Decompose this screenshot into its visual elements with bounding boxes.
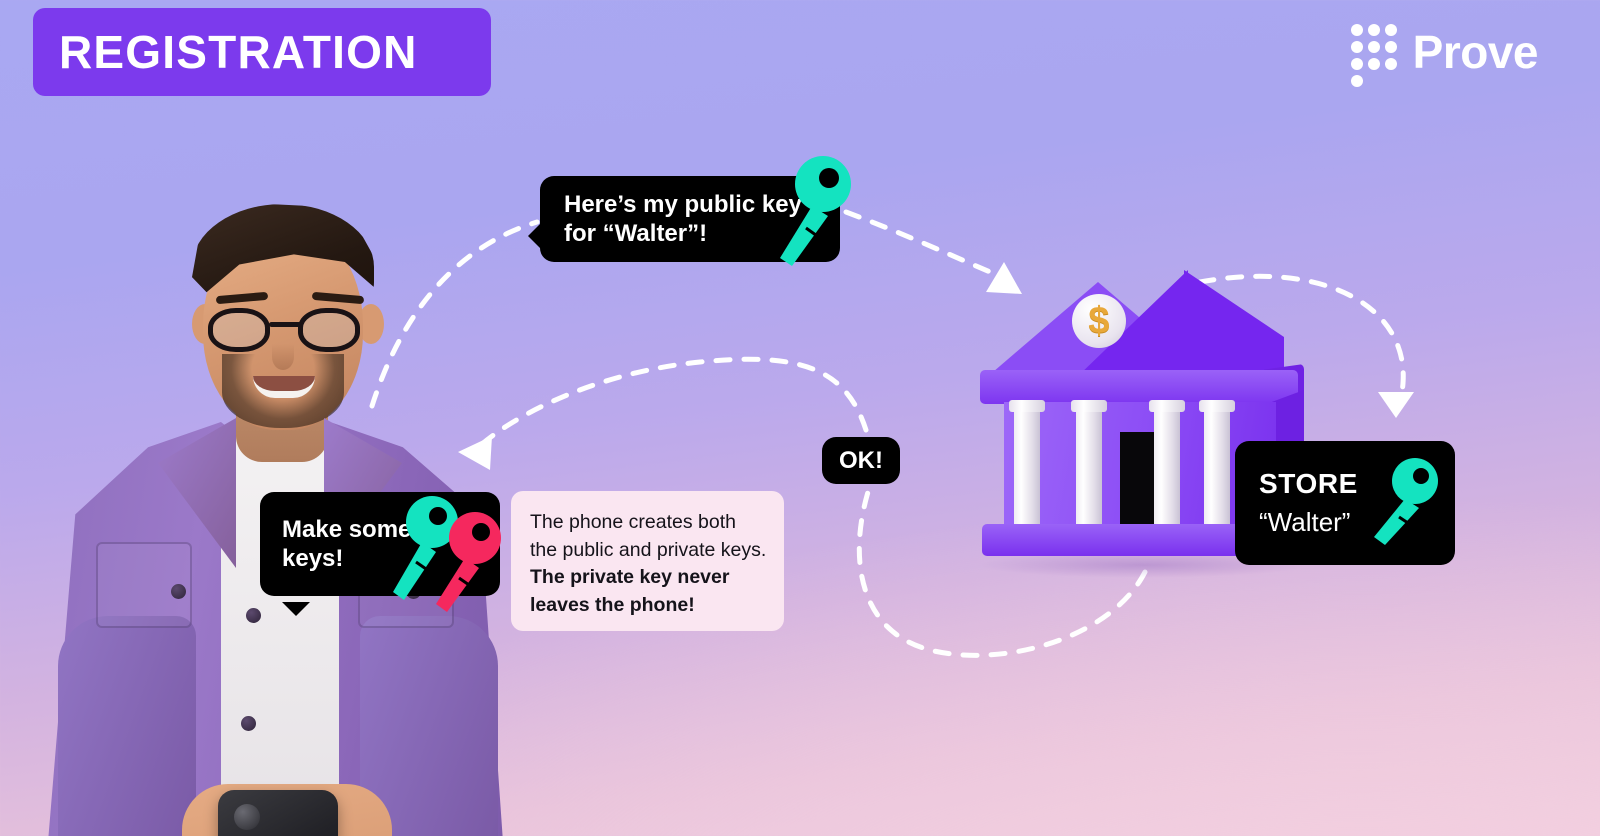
registration-badge: REGISTRATION: [33, 8, 491, 96]
prove-wordmark: Prove: [1413, 29, 1538, 75]
column: [1014, 406, 1040, 530]
prove-logo[interactable]: Prove: [1351, 24, 1538, 80]
key-icon: [1369, 457, 1447, 549]
path-return-to-man: [482, 359, 866, 444]
entablature: [980, 370, 1298, 404]
bubble-public-line1: Here’s my public key: [564, 190, 802, 219]
info-line1: The phone creates both: [530, 509, 768, 537]
bubble-ok-label: OK!: [839, 447, 883, 475]
arrowhead-to-man: [458, 436, 492, 470]
column: [1154, 406, 1180, 530]
bubble-store-line2: “Walter”: [1259, 507, 1350, 538]
info-panel: The phone creates both the public and pr…: [511, 491, 784, 631]
arrowhead-to-store: [1378, 392, 1414, 418]
info-bold2: leaves the phone!: [530, 592, 768, 620]
prove-dot-matrix-icon: [1351, 24, 1397, 80]
page-title: REGISTRATION: [59, 29, 418, 75]
bubble-store-line1: STORE: [1259, 468, 1358, 500]
column: [1076, 406, 1102, 530]
speech-bubble-public-key: Here’s my public key for “Walter”!: [540, 176, 840, 262]
speech-bubble-ok: OK!: [822, 437, 900, 484]
speech-bubble-make-keys: Make some keys!: [260, 492, 500, 596]
dashed-flow-arrows: [0, 0, 1600, 836]
speech-bubble-store: STORE “Walter”: [1235, 441, 1455, 565]
roof-side: [1184, 270, 1284, 378]
bubble-tail: [282, 602, 310, 616]
bubble-public-line2: for “Walter”!: [564, 219, 802, 248]
info-bold1: The private key never: [530, 564, 768, 592]
key-icon: [778, 154, 852, 272]
registration-diagram: $ Here’s my public key for “Walter”!: [0, 0, 1600, 836]
dollar-coin-icon: $: [1072, 294, 1126, 348]
path-phone-to-bubble: [372, 222, 537, 406]
bubble-tail: [528, 224, 540, 248]
info-line2: the public and private keys.: [530, 537, 768, 565]
column: [1204, 406, 1230, 530]
two-keys-icon: [390, 494, 520, 612]
